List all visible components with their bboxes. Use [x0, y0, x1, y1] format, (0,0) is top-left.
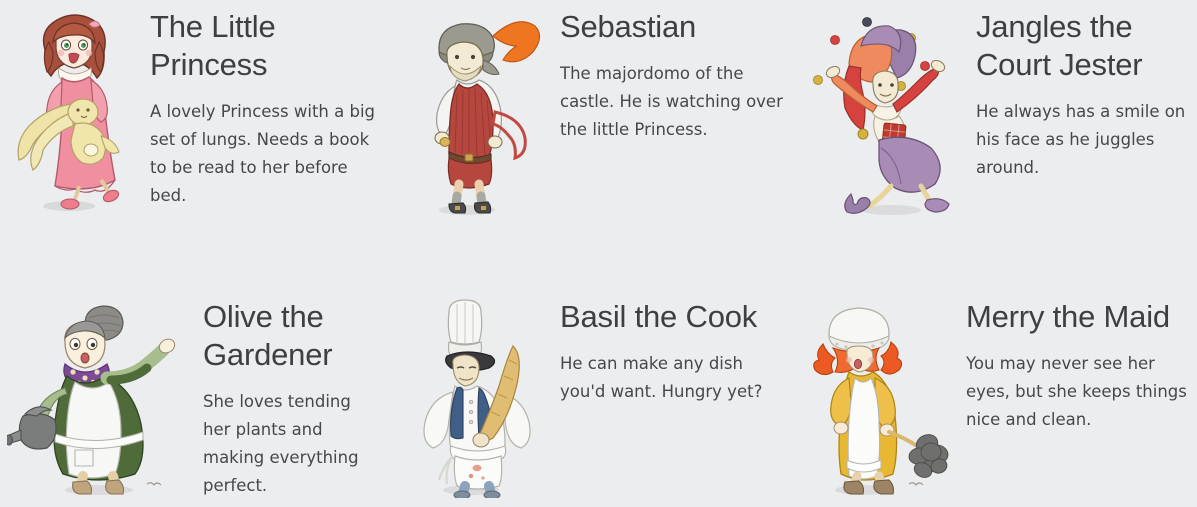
character-copy: The Little Princess A lovely Princess wi…: [150, 8, 400, 210]
character-description: She loves tending her plants and making …: [203, 388, 380, 500]
jester-illustration: [800, 8, 976, 220]
character-grid: The Little Princess A lovely Princess wi…: [0, 0, 1197, 507]
character-description: A lovely Princess with a big set of lung…: [150, 98, 380, 210]
character-name: Basil the Cook: [560, 298, 785, 336]
princess-illustration: [0, 8, 150, 220]
character-description: He always has a smile on his face as he …: [976, 98, 1197, 182]
character-copy: Basil the Cook He can make any dish you'…: [560, 298, 800, 406]
character-card-olive-the-gardener[interactable]: Olive the Gardener She loves tending her…: [0, 280, 400, 507]
character-copy: Jangles the Court Jester He always has a…: [976, 8, 1197, 182]
character-card-basil-the-cook[interactable]: Basil the Cook He can make any dish you'…: [400, 280, 800, 507]
character-card-jangles-the-court-jester[interactable]: Jangles the Court Jester He always has a…: [800, 0, 1197, 280]
character-name: Merry the Maid: [966, 298, 1197, 336]
character-copy: Merry the Maid You may never see her eye…: [966, 298, 1197, 434]
character-card-merry-the-maid[interactable]: Merry the Maid You may never see her eye…: [800, 280, 1197, 507]
character-card-sebastian[interactable]: Sebastian The majordomo of the castle. H…: [400, 0, 800, 280]
cook-illustration: [400, 298, 560, 498]
character-description: The majordomo of the castle. He is watch…: [560, 60, 785, 144]
sebastian-illustration: [400, 8, 560, 220]
character-name: Olive the Gardener: [203, 298, 380, 374]
character-copy: Olive the Gardener She loves tending her…: [203, 298, 400, 500]
character-name: Sebastian: [560, 8, 785, 46]
maid-illustration: [800, 298, 966, 498]
character-copy: Sebastian The majordomo of the castle. H…: [560, 8, 800, 144]
character-card-the-little-princess[interactable]: The Little Princess A lovely Princess wi…: [0, 0, 400, 280]
character-name: Jangles the Court Jester: [976, 8, 1197, 84]
gardener-illustration: [0, 298, 203, 498]
character-description: You may never see her eyes, but she keep…: [966, 350, 1197, 434]
character-name: The Little Princess: [150, 8, 380, 84]
character-description: He can make any dish you'd want. Hungry …: [560, 350, 785, 406]
